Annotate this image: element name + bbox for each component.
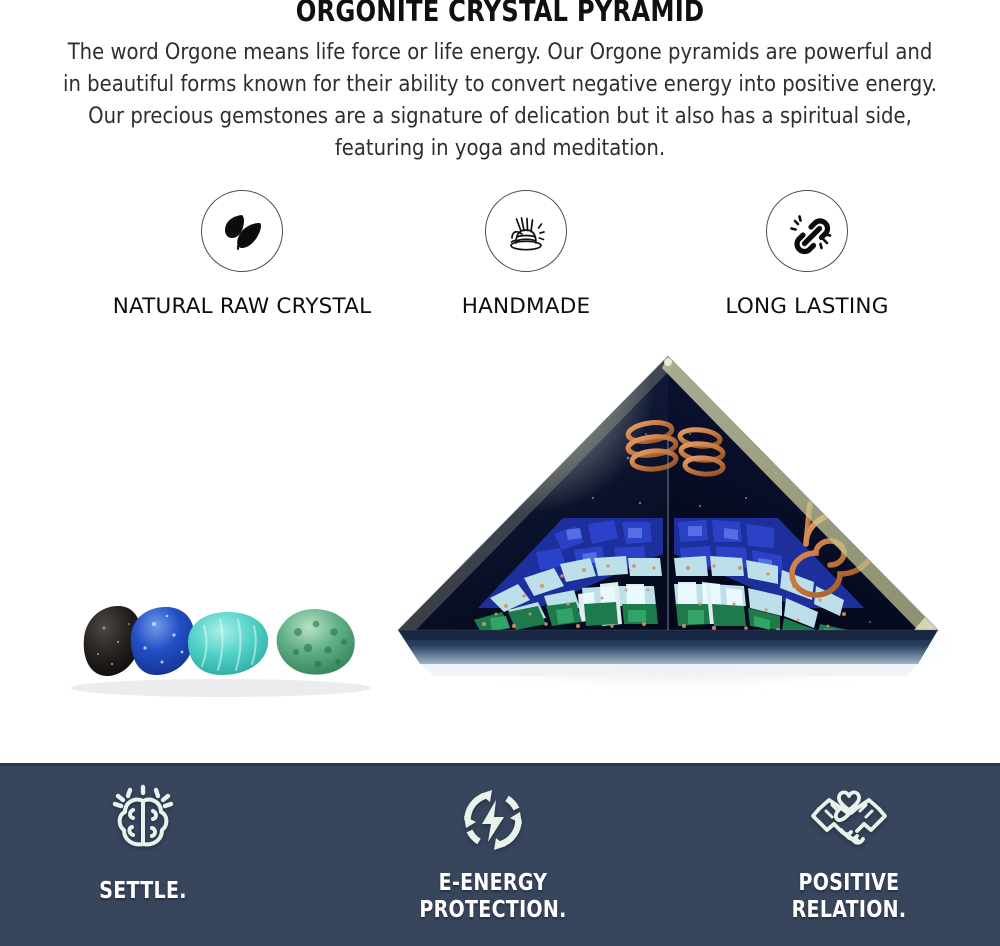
pyramid-base [398,630,938,676]
product-photo-area [0,330,1000,762]
feature-icon-ring [201,190,283,272]
gemstone-cluster [46,580,396,700]
feature-icon-ring [485,190,567,272]
orgonite-pyramid [378,338,978,758]
brain-icon-wrap [97,780,189,860]
page-title: ORGONITE CRYSTAL PYRAMID [35,0,965,27]
energy-icon-wrap [447,780,539,860]
feature-handmade: HANDMADE [366,190,686,319]
handshake-icon-wrap [803,780,895,860]
benefit-settle: SETTLE. [0,766,293,946]
handmade-pottery-icon [497,202,555,260]
leaves-icon [214,203,270,259]
benefit-label: POSITIVERELATION. [711,870,987,924]
feature-row: NATURAL RAW CRYSTAL [0,190,1000,330]
handshake-heart-icon [807,783,891,857]
energy-bolt-recycle-icon [454,782,532,858]
intro-paragraph: The word Orgone means life force or life… [56,36,945,164]
feature-label: NATURAL RAW CRYSTAL [82,294,402,319]
feature-icon-ring [766,190,848,272]
benefit-label: SETTLE. [5,878,281,905]
feature-natural-raw-crystal: NATURAL RAW CRYSTAL [82,190,402,319]
stone-lapis-lazuli [131,607,194,675]
brain-icon [105,783,181,857]
feature-label: HANDMADE [366,294,686,319]
feature-long-lasting: LONG LASTING [647,190,967,319]
pyramid-graphic [378,338,978,758]
benefit-label: E-ENERGYPROTECTION. [355,870,631,924]
feature-label: LONG LASTING [647,294,967,319]
product-infographic: ORGONITE CRYSTAL PYRAMID The word Orgone… [0,0,1000,946]
benefits-banner: SETTLE. [0,763,1000,946]
benefit-positive-relation: POSITIVERELATION. [699,766,999,946]
chain-link-icon [779,203,835,259]
benefit-e-energy-protection: E-ENERGYPROTECTION. [343,766,643,946]
